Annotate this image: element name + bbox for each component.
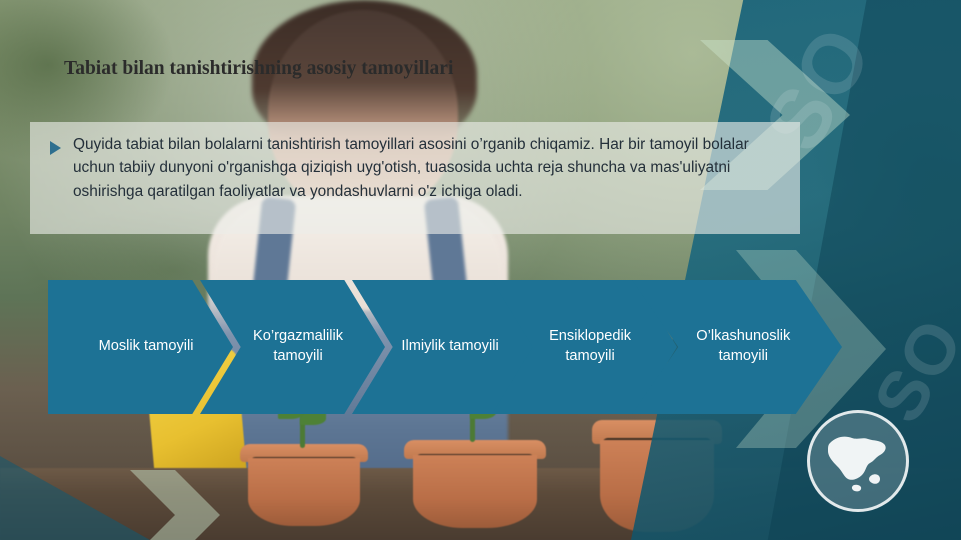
process-step-label: Ilmiylik tamoyili (395, 337, 506, 357)
page-title: Tabiat bilan tanishtirishning asosiy tam… (64, 56, 484, 82)
process-step-label: O’lkashunoslik tamoyili (680, 327, 806, 366)
plant-pot-left (240, 444, 368, 524)
triangle-bullet-icon (50, 141, 61, 155)
process-step-label: Ensiklopedik tamoyili (535, 327, 646, 366)
bullet-item: Quyida tabiat bilan bolalarni tanishtiri… (50, 133, 790, 203)
plant-pot-middle (404, 440, 546, 526)
process-chevrons: Moslik tamoyili Ko’rgazmalilik tamoyili … (48, 280, 858, 414)
process-step-label: Ko’rgazmalilik tamoyili (243, 327, 354, 366)
process-step-1[interactable]: Moslik tamoyili (48, 280, 233, 414)
process-step-label: Moslik tamoyili (91, 337, 202, 357)
globe-logo-icon (807, 410, 909, 512)
bullet-text: Quyida tabiat bilan bolalarni tanishtiri… (73, 133, 790, 203)
slide: SO SO Tabiat bilan tanishtirishning asos… (0, 0, 961, 540)
pot-body (248, 458, 361, 525)
pot-body (413, 455, 538, 527)
